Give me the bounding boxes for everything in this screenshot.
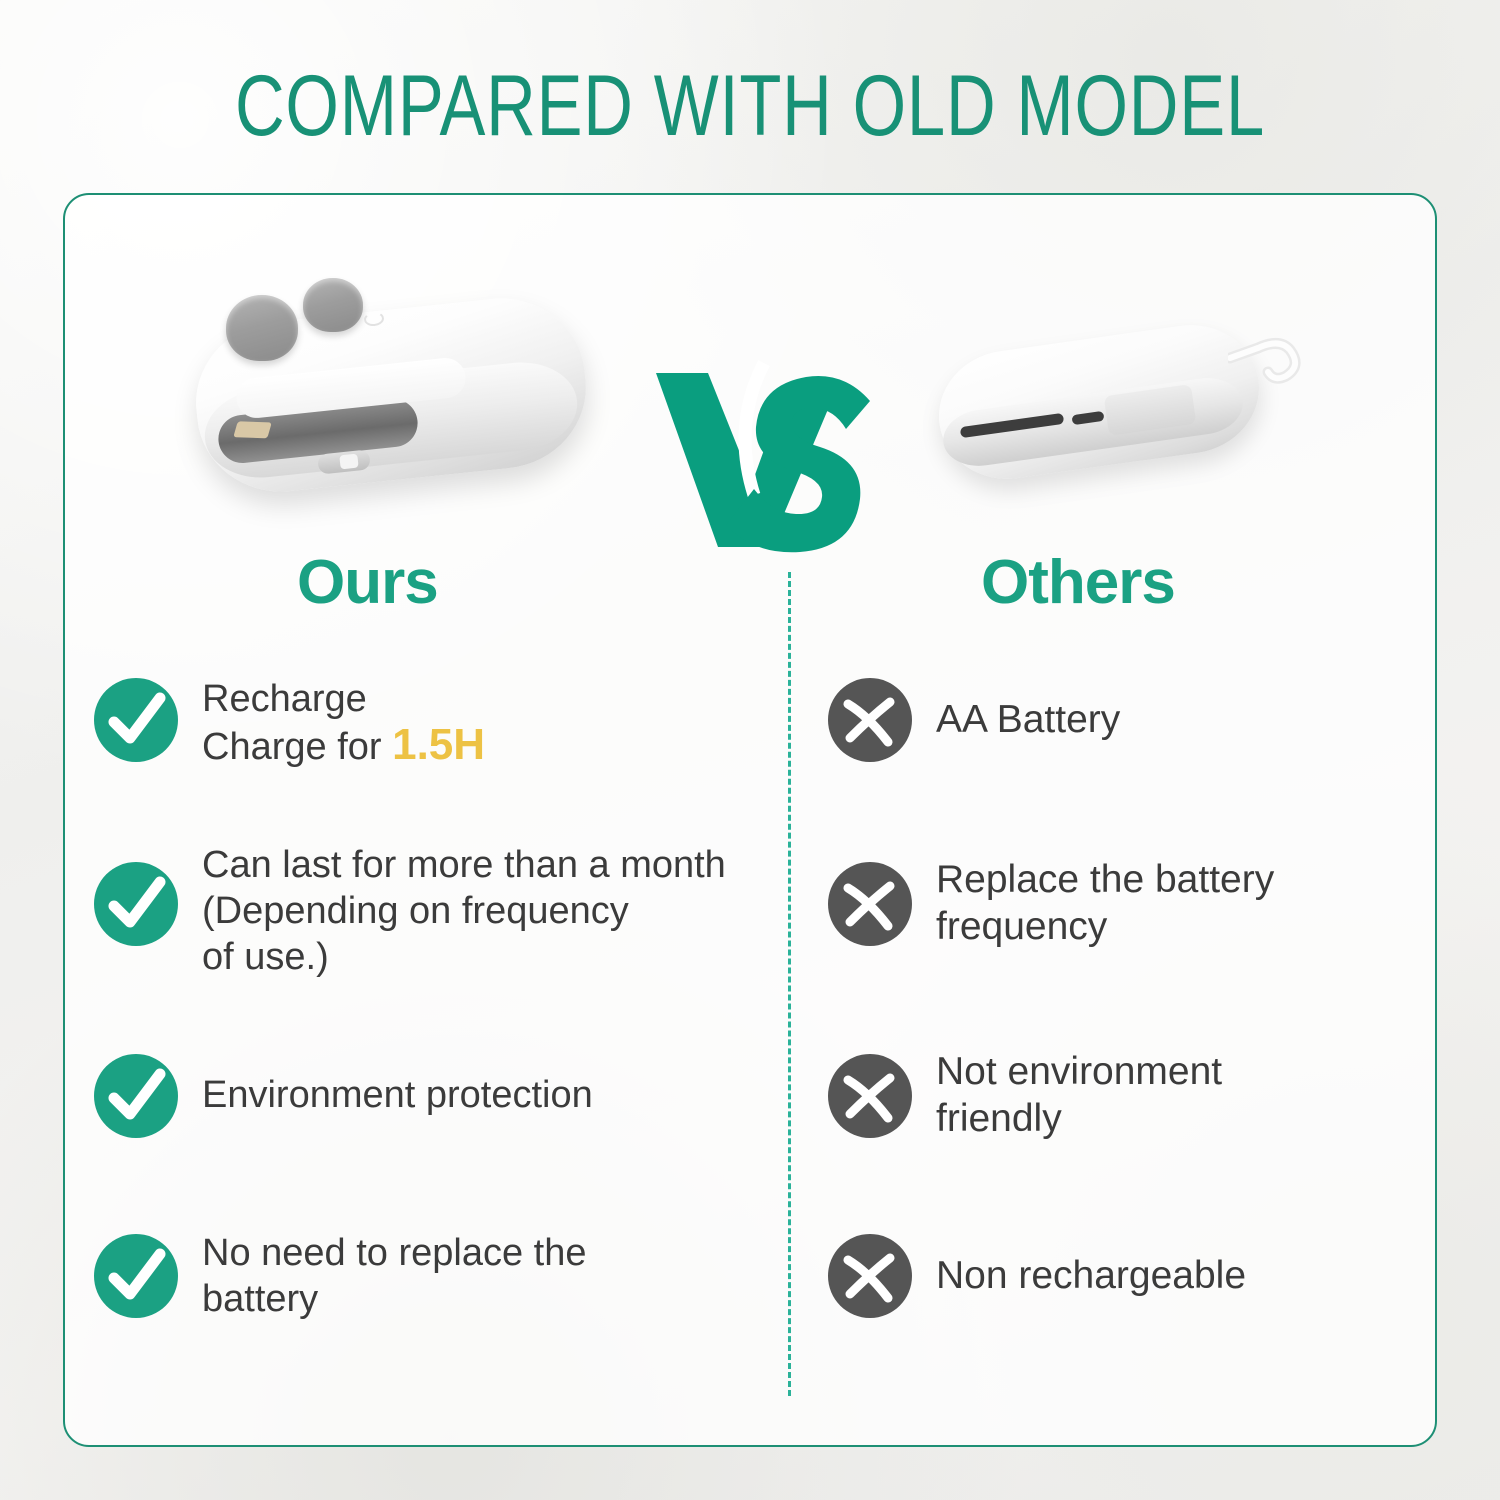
page-title: COMPARED WITH OLD MODEL: [150, 58, 1350, 154]
hook-icon: [1228, 324, 1314, 388]
check-icon: [92, 676, 180, 764]
product-image-ours: [178, 272, 608, 522]
sealer-knob-small: [303, 278, 363, 332]
feature-row: Recharge Charge for 1.5H: [92, 676, 485, 770]
feature-row: Not environment friendly: [826, 1052, 1222, 1142]
check-icon: [92, 1052, 180, 1140]
feature-text: Environment protection: [202, 1072, 593, 1118]
cross-icon: [826, 676, 914, 764]
check-icon: [92, 860, 180, 948]
feature-row: AA Battery: [826, 676, 1120, 764]
feature-row: Non rechargeable: [826, 1232, 1246, 1320]
cross-icon: [826, 860, 914, 948]
feature-row: Environment protection: [92, 1052, 593, 1140]
feature-text: Can last for more than a month (Dependin…: [202, 842, 726, 980]
column-caption-ours: Ours: [297, 548, 438, 618]
cross-icon: [826, 1052, 914, 1140]
feature-label: Recharge Charge for: [202, 678, 392, 768]
feature-text: No need to replace the battery: [202, 1230, 587, 1322]
feature-text: Not environment friendly: [936, 1048, 1222, 1142]
sealer-knob-large: [226, 295, 298, 361]
column-divider: [788, 572, 791, 1396]
feature-text: Non rechargeable: [936, 1252, 1246, 1299]
feature-text: Recharge Charge for 1.5H: [202, 676, 485, 770]
vs-badge: [648, 355, 888, 555]
feature-row: No need to replace the battery: [92, 1232, 587, 1322]
feature-row: Replace the battery frequency: [826, 860, 1274, 950]
feature-text: Replace the battery frequency: [936, 856, 1274, 950]
check-icon: [92, 1232, 180, 1320]
column-caption-others: Others: [981, 548, 1175, 618]
feature-highlight: 1.5H: [392, 720, 485, 769]
cross-icon: [826, 1232, 914, 1320]
product-image-others: [928, 316, 1358, 506]
feature-row: Can last for more than a month (Dependin…: [92, 860, 726, 980]
feature-text: AA Battery: [936, 696, 1120, 743]
